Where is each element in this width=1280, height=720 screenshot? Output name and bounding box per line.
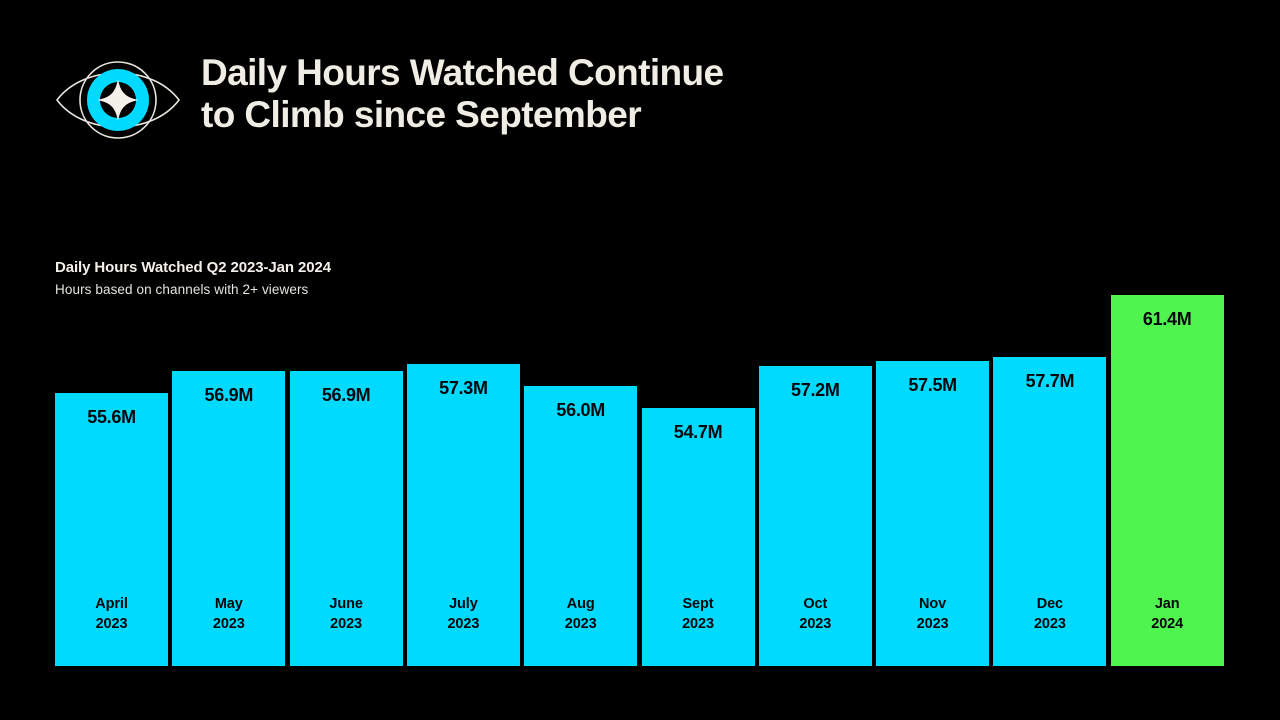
bar-value-label: 57.5M bbox=[908, 375, 957, 396]
bar-category-label: Oct2023 bbox=[799, 594, 831, 634]
slide-header: Daily Hours Watched Continue to Climb si… bbox=[0, 0, 1280, 190]
bar-label-month: May bbox=[215, 596, 243, 612]
bar-jan-2024[interactable]: 61.4MJan2024 bbox=[1111, 295, 1224, 666]
bar-may-2023[interactable]: 56.9MMay2023 bbox=[172, 371, 285, 666]
bar-label-month: Sept bbox=[682, 596, 713, 612]
bar-value-label: 56.9M bbox=[322, 385, 371, 406]
slide-headline: Daily Hours Watched Continue to Climb si… bbox=[201, 52, 723, 136]
bar-label-month: June bbox=[329, 596, 362, 612]
bar-label-month: Jan bbox=[1155, 596, 1180, 612]
bar-label-month: Dec bbox=[1037, 596, 1063, 612]
bar-label-year: 2023 bbox=[565, 614, 597, 634]
bar-label-year: 2023 bbox=[447, 614, 479, 634]
bar-label-month: Aug bbox=[567, 596, 595, 612]
bar-oct-2023[interactable]: 57.2MOct2023 bbox=[759, 366, 872, 666]
bar-aug-2023[interactable]: 56.0MAug2023 bbox=[524, 386, 637, 666]
bar-value-label: 57.3M bbox=[439, 378, 488, 399]
bar-value-label: 57.2M bbox=[791, 380, 840, 401]
bar-value-label: 61.4M bbox=[1143, 309, 1192, 330]
bar-july-2023[interactable]: 57.3MJuly2023 bbox=[407, 364, 520, 666]
bar-category-label: April2023 bbox=[95, 594, 128, 634]
eye-sparkle-logo bbox=[54, 54, 182, 146]
bar-nov-2023[interactable]: 57.5MNov2023 bbox=[876, 361, 989, 666]
slide-canvas: Daily Hours Watched Continue to Climb si… bbox=[0, 0, 1280, 720]
bar-label-year: 2023 bbox=[917, 614, 949, 634]
bar-category-label: Sept2023 bbox=[682, 594, 714, 634]
bar-category-label: June2023 bbox=[329, 594, 362, 634]
bar-label-month: Oct bbox=[803, 596, 827, 612]
bar-label-year: 2023 bbox=[213, 614, 245, 634]
bar-category-label: May2023 bbox=[213, 594, 245, 634]
bar-sept-2023[interactable]: 54.7MSept2023 bbox=[642, 408, 755, 666]
bar-category-label: Jan2024 bbox=[1151, 594, 1183, 634]
bar-category-label: Nov2023 bbox=[917, 594, 949, 634]
bar-label-year: 2023 bbox=[95, 614, 128, 634]
bar-june-2023[interactable]: 56.9MJune2023 bbox=[290, 371, 403, 666]
bar-label-month: July bbox=[449, 596, 478, 612]
bar-dec-2023[interactable]: 57.7MDec2023 bbox=[993, 357, 1106, 666]
bar-chart-plot-area: 55.6MApril202356.9MMay202356.9MJune20235… bbox=[55, 290, 1225, 666]
bar-value-label: 56.0M bbox=[556, 400, 605, 421]
bar-april-2023[interactable]: 55.6MApril2023 bbox=[55, 393, 168, 666]
bar-label-year: 2023 bbox=[682, 614, 714, 634]
bar-category-label: Aug2023 bbox=[565, 594, 597, 634]
bar-label-month: April bbox=[95, 596, 128, 612]
bar-value-label: 56.9M bbox=[205, 385, 254, 406]
bar-label-month: Nov bbox=[919, 596, 946, 612]
bar-value-label: 55.6M bbox=[87, 407, 136, 428]
bar-label-year: 2023 bbox=[1034, 614, 1066, 634]
bar-label-year: 2024 bbox=[1151, 614, 1183, 634]
bar-category-label: July2023 bbox=[447, 594, 479, 634]
bar-label-year: 2023 bbox=[329, 614, 362, 634]
bar-value-label: 57.7M bbox=[1026, 371, 1075, 392]
bar-category-label: Dec2023 bbox=[1034, 594, 1066, 634]
chart-title: Daily Hours Watched Q2 2023-Jan 2024 bbox=[55, 258, 331, 277]
bar-value-label: 54.7M bbox=[674, 422, 723, 443]
bar-label-year: 2023 bbox=[799, 614, 831, 634]
